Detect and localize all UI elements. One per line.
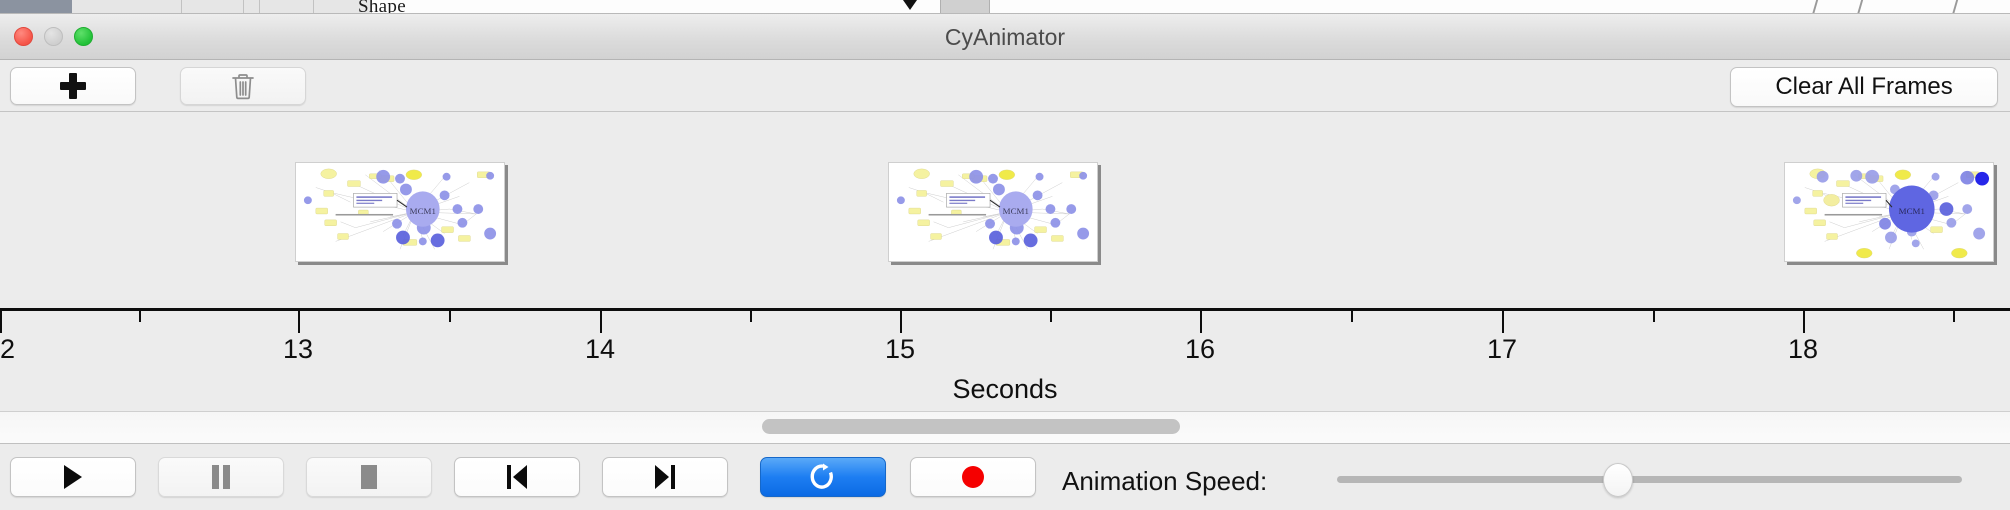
slider-track[interactable] (1337, 476, 1962, 483)
slider-thumb[interactable] (1603, 463, 1633, 497)
animation-speed-slider[interactable] (1337, 476, 1962, 484)
skip-next-icon (653, 464, 677, 490)
loop-icon (810, 463, 836, 491)
title-bar: CyAnimator (0, 14, 2010, 60)
axis-tick-label: 17 (1487, 334, 1517, 365)
axis-tick-major (1502, 311, 1504, 333)
trash-icon (230, 72, 256, 100)
svg-text:MCM1: MCM1 (1899, 206, 1925, 216)
axis-line (0, 308, 2010, 311)
add-frame-button[interactable] (10, 67, 136, 105)
clear-all-frames-button[interactable]: Clear All Frames (1730, 67, 1998, 107)
axis-tick-major (1803, 311, 1805, 333)
animation-speed-label: Animation Speed: (1062, 466, 1267, 497)
timeline-axis: 12 13 14 15 16 17 18 Seconds (0, 112, 2010, 412)
svg-text:MCM1: MCM1 (1003, 206, 1029, 216)
axis-tick-minor (1351, 311, 1353, 322)
pause-button[interactable] (158, 457, 284, 497)
stop-icon (358, 464, 380, 490)
frame-thumbnail[interactable]: MCM1 (1784, 162, 1994, 262)
skip-previous-icon (505, 464, 529, 490)
delete-frame-button[interactable] (180, 67, 306, 105)
axis-tick-major (298, 311, 300, 333)
axis-tick-minor (750, 311, 752, 322)
frame-toolbar: Clear All Frames (0, 60, 2010, 112)
stop-button[interactable] (306, 457, 432, 497)
axis-title: Seconds (0, 374, 2010, 405)
plus-icon (60, 73, 86, 99)
axis-tick-major (1200, 311, 1202, 333)
skip-to-start-button[interactable] (454, 457, 580, 497)
axis-tick-minor (1653, 311, 1655, 322)
pause-icon (210, 464, 232, 490)
record-button[interactable] (910, 457, 1036, 497)
axis-tick-major (0, 311, 2, 333)
loop-button[interactable] (760, 457, 886, 497)
play-button[interactable] (10, 457, 136, 497)
axis-tick-minor (139, 311, 141, 322)
axis-tick-label: 13 (283, 334, 313, 365)
background-window-label: Shape (358, 0, 406, 14)
background-window-strip: Shape (0, 0, 2010, 14)
record-icon (960, 464, 986, 490)
play-icon (61, 464, 85, 490)
svg-text:MCM1: MCM1 (410, 206, 436, 216)
axis-tick-minor (1953, 311, 1955, 322)
frame-thumbnail[interactable]: MCM1 (888, 162, 1098, 262)
scrollbar-thumb[interactable] (762, 419, 1180, 434)
axis-tick-label: 18 (1788, 334, 1818, 365)
axis-tick-major (900, 311, 902, 333)
cyanimator-window: Shape CyAnimator Clear All Frames (0, 0, 2010, 510)
timeline-scrollbar[interactable] (0, 412, 2010, 444)
axis-tick-label: 16 (1185, 334, 1215, 365)
axis-tick-major (600, 311, 602, 333)
playback-control-bar: Animation Speed: (0, 444, 2010, 510)
frame-thumbnail[interactable]: MCM1 (295, 162, 505, 262)
axis-tick-minor (449, 311, 451, 322)
axis-tick-label: 14 (585, 334, 615, 365)
skip-to-end-button[interactable] (602, 457, 728, 497)
window-title: CyAnimator (0, 14, 2010, 60)
axis-tick-minor (1050, 311, 1052, 322)
axis-tick-label: 15 (885, 334, 915, 365)
timeline-panel[interactable]: MCM1 (0, 112, 2010, 412)
axis-tick-label: 12 (0, 334, 15, 365)
